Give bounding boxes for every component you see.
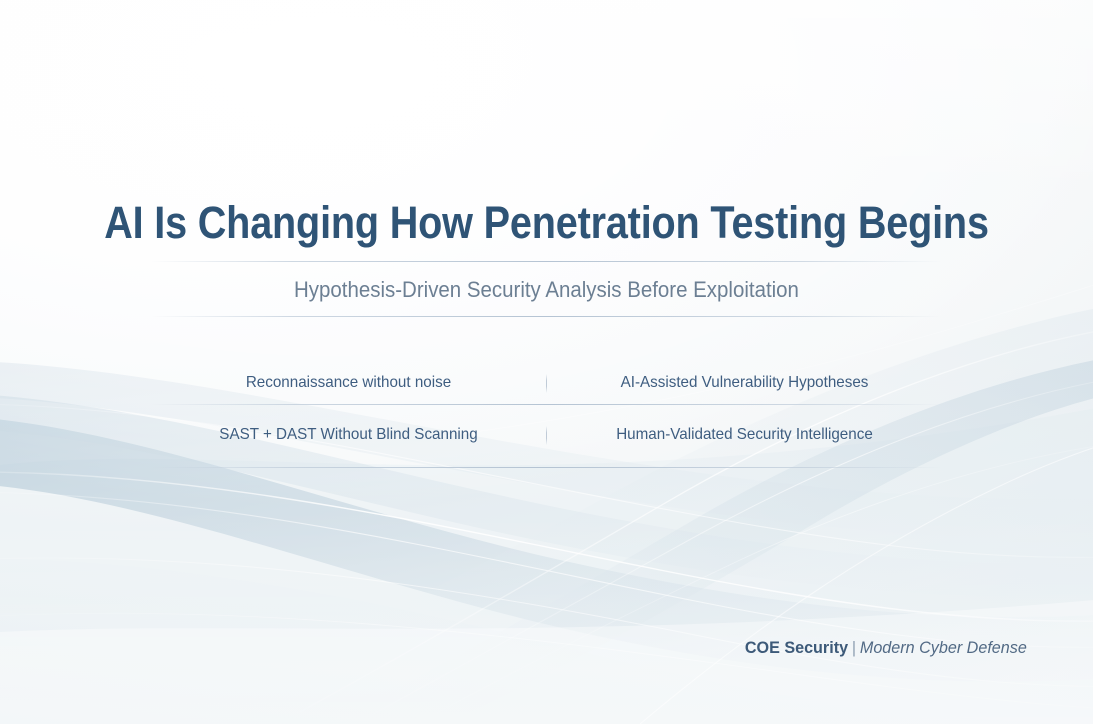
feature-row: Reconnaissance without noise AI-Assisted… — [151, 362, 942, 404]
page-subtitle: Hypothesis-Driven Security Analysis Befo… — [38, 275, 1054, 305]
presentation-slide: AI Is Changing How Penetration Testing B… — [0, 0, 1093, 724]
feature-column-divider — [546, 374, 547, 393]
footer-branding: COE Security|Modern Cyber Defense — [745, 636, 1027, 660]
page-title: AI Is Changing How Penetration Testing B… — [66, 194, 1028, 252]
feature-column-divider — [546, 426, 547, 445]
divider-below-subtitle — [151, 316, 942, 317]
footer-tagline: Modern Cyber Defense — [860, 638, 1027, 657]
feature-item-ai-hypotheses: AI-Assisted Vulnerability Hypotheses — [557, 372, 932, 394]
feature-row: SAST + DAST Without Blind Scanning Human… — [151, 414, 942, 456]
feature-item-reconnaissance: Reconnaissance without noise — [161, 372, 536, 394]
footer-brand-name: COE Security — [745, 638, 848, 657]
divider-above-subtitle — [151, 261, 942, 262]
divider-between-feature-rows — [151, 404, 942, 405]
footer-separator: | — [848, 638, 860, 657]
divider-below-features — [151, 467, 942, 468]
feature-item-sast-dast: SAST + DAST Without Blind Scanning — [161, 424, 536, 446]
feature-item-human-validated: Human-Validated Security Intelligence — [557, 424, 932, 446]
